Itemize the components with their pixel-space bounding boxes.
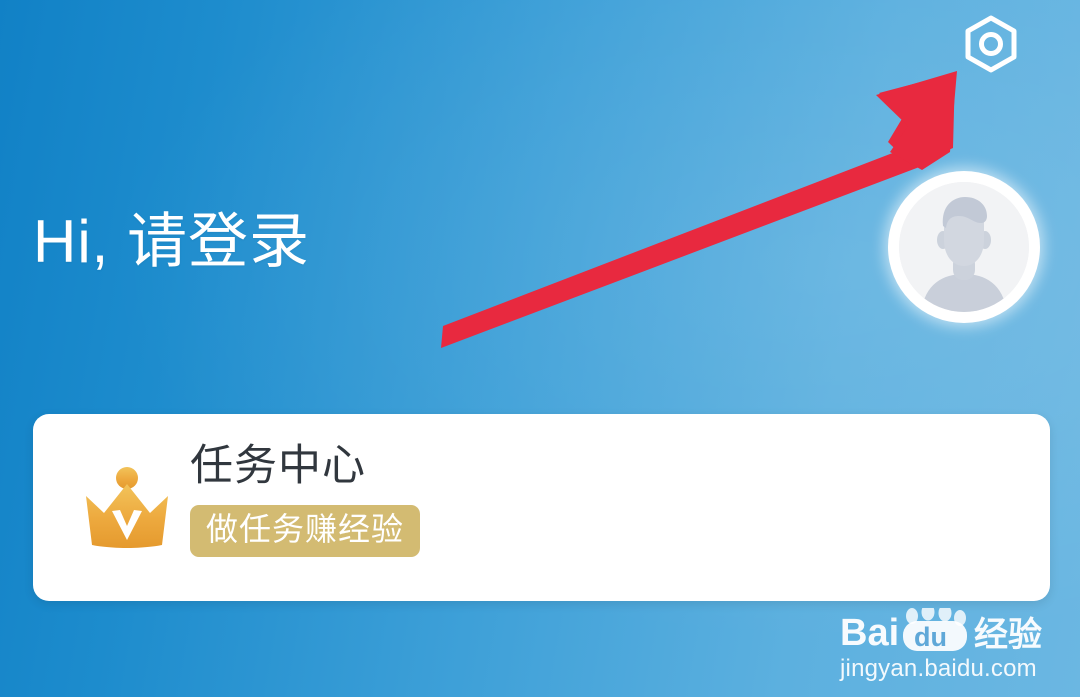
task-card-title: 任务中心 bbox=[190, 442, 420, 491]
avatar[interactable] bbox=[888, 171, 1040, 323]
user-silhouette-icon bbox=[899, 182, 1029, 312]
task-center-card[interactable]: 任务中心 做任务赚经验 bbox=[33, 414, 1050, 601]
svg-text:Bai: Bai bbox=[840, 612, 899, 654]
paw-print-icon bbox=[906, 608, 966, 626]
hexagon-settings-icon bbox=[962, 14, 1020, 74]
greeting-text: Hi, 请登录 bbox=[33, 212, 310, 272]
task-card-body: 任务中心 做任务赚经验 bbox=[190, 442, 420, 557]
watermark: Bai du 经验 jingyan.baidu.com bbox=[840, 608, 1052, 683]
task-card-badge: 做任务赚经验 bbox=[190, 505, 420, 556]
avatar-image bbox=[899, 182, 1029, 312]
baidu-jingyan-logo: Bai du 经验 bbox=[840, 608, 1052, 654]
baidu-logo-icon: Bai du 经验 bbox=[840, 608, 1052, 654]
svg-text:du: du bbox=[914, 622, 947, 652]
watermark-url: jingyan.baidu.com bbox=[840, 655, 1052, 683]
svg-text:经验: 经验 bbox=[974, 615, 1042, 654]
crown-icon bbox=[78, 466, 176, 551]
settings-button[interactable] bbox=[962, 14, 1020, 74]
app-screen: Hi, 请登录 bbox=[0, 0, 1080, 697]
